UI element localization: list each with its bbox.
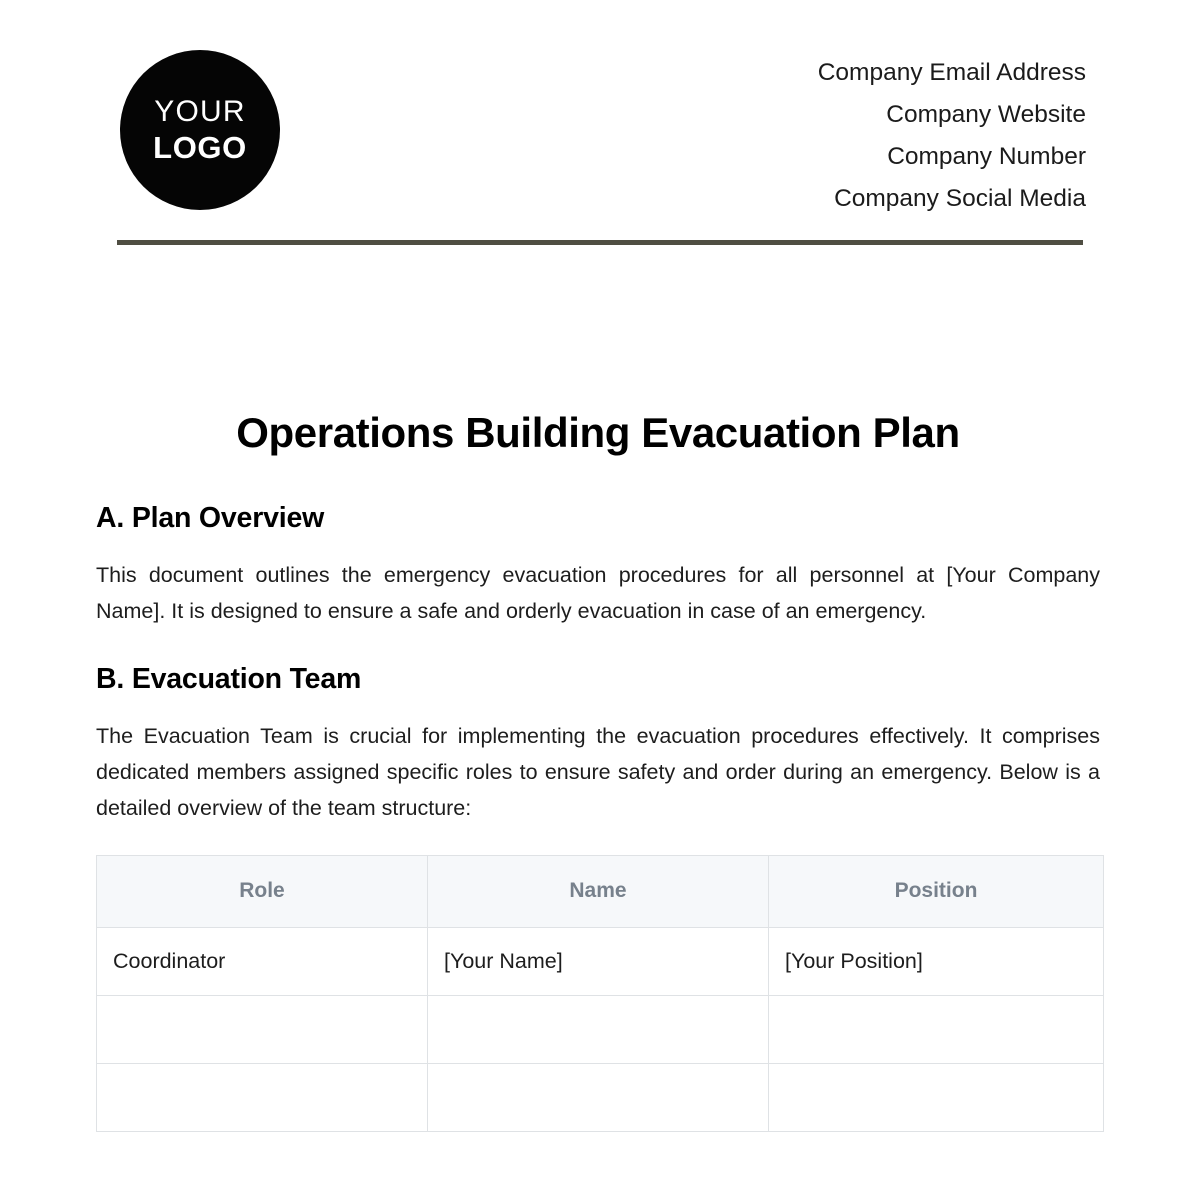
logo-text-primary: YOUR: [154, 97, 245, 127]
contact-website: Company Website: [818, 94, 1086, 136]
table-header-row: Role Name Position: [97, 855, 1104, 927]
document-header: YOUR LOGO Company Email Address Company …: [0, 0, 1200, 252]
cell-role[interactable]: [97, 1063, 428, 1131]
table-row: [97, 1063, 1104, 1131]
column-header-name: Name: [428, 855, 769, 927]
company-logo: YOUR LOGO: [120, 50, 280, 210]
table-row: [97, 995, 1104, 1063]
cell-role[interactable]: Coordinator: [97, 927, 428, 995]
cell-position[interactable]: [769, 995, 1104, 1063]
contact-email-address: Company Email Address: [818, 52, 1086, 94]
column-header-role: Role: [97, 855, 428, 927]
evacuation-team-table: Role Name Position Coordinator [Your Nam…: [96, 855, 1104, 1132]
document-page: YOUR LOGO Company Email Address Company …: [0, 0, 1200, 1200]
section-body-evacuation-team: The Evacuation Team is crucial for imple…: [96, 718, 1100, 826]
company-contact-block: Company Email Address Company Website Co…: [818, 52, 1086, 220]
contact-phone-number: Company Number: [818, 136, 1086, 178]
cell-position[interactable]: [769, 1063, 1104, 1131]
header-divider-rule: [117, 240, 1083, 245]
cell-name[interactable]: [428, 995, 769, 1063]
cell-role[interactable]: [97, 995, 428, 1063]
section-body-plan-overview: This document outlines the emergency eva…: [96, 557, 1100, 629]
document-content: Operations Building Evacuation Plan A. P…: [96, 408, 1100, 1132]
section-heading-plan-overview: A. Plan Overview: [96, 502, 1100, 535]
cell-position[interactable]: [Your Position]: [769, 927, 1104, 995]
page-title: Operations Building Evacuation Plan: [96, 408, 1100, 458]
section-heading-evacuation-team: B. Evacuation Team: [96, 663, 1100, 696]
contact-social-media: Company Social Media: [818, 178, 1086, 220]
logo-text-secondary: LOGO: [153, 132, 247, 163]
table-row: Coordinator [Your Name] [Your Position]: [97, 927, 1104, 995]
cell-name[interactable]: [Your Name]: [428, 927, 769, 995]
cell-name[interactable]: [428, 1063, 769, 1131]
column-header-position: Position: [769, 855, 1104, 927]
